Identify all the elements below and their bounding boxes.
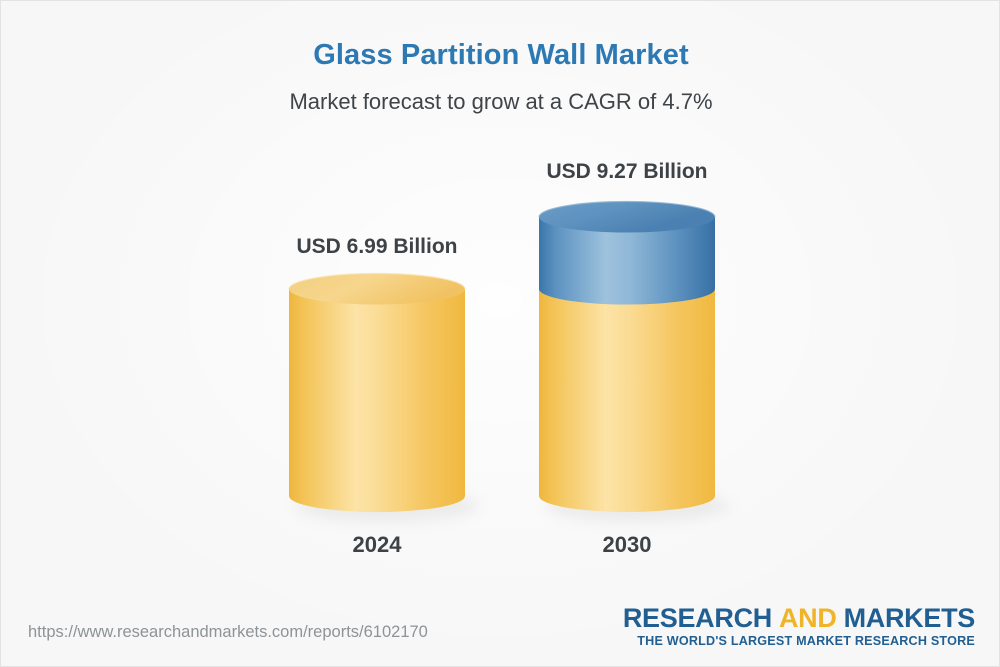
category-label-2030: 2030 — [539, 532, 715, 558]
page-title: Glass Partition Wall Market — [1, 39, 1000, 72]
bar-value-label-2030: USD 9.27 Billion — [489, 160, 765, 184]
logo-word-and: AND — [779, 603, 837, 633]
report-url[interactable]: https://www.researchandmarkets.com/repor… — [28, 623, 428, 642]
research-and-markets-logo[interactable]: RESEARCHANDMARKETS THE WORLD'S LARGEST M… — [623, 604, 975, 649]
logo-word-research: RESEARCH — [623, 603, 772, 633]
bar-2030-base-body — [539, 289, 715, 512]
bar-value-label-2024: USD 6.99 Billion — [239, 235, 515, 259]
chart-card: Glass Partition Wall Market Market forec… — [0, 0, 1000, 667]
logo-wordmark: RESEARCHANDMARKETS — [623, 604, 975, 632]
chart-subtitle: Market forecast to grow at a CAGR of 4.7… — [1, 89, 1000, 115]
category-label-2024: 2024 — [289, 532, 465, 558]
bar-2024-body — [289, 289, 465, 512]
bar-2030 — [539, 202, 715, 513]
logo-word-markets: MARKETS — [844, 603, 975, 633]
logo-tagline: THE WORLD'S LARGEST MARKET RESEARCH STOR… — [623, 634, 975, 649]
bar-2024 — [289, 274, 465, 513]
